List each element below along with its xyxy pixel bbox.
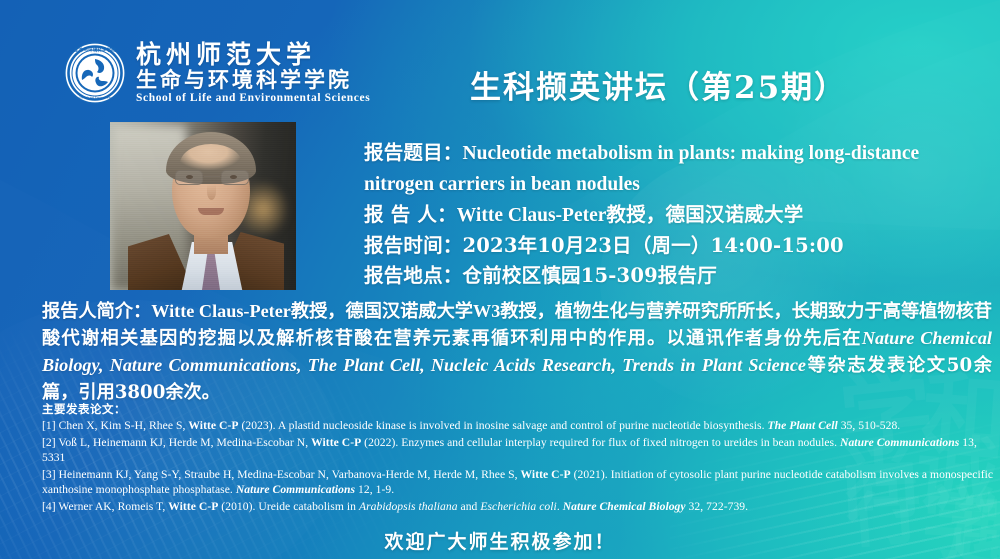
speaker-biography: 报告人简介：Witte Claus-Peter教授，德国汉诺威大学W3教授，植物… <box>42 298 992 406</box>
publication-list: 主要发表论文： [1] Chen X, Kim S-H, Rhee S, Wit… <box>42 402 994 516</box>
svg-text:生命与环境科学学院: 生命与环境科学学院 <box>74 47 116 54</box>
pub-journal: The Plant Cell <box>768 419 838 432</box>
pub-title: (2022). Enzymes and cellular interplay r… <box>361 436 840 449</box>
place-label: 报告地点： <box>364 264 463 287</box>
pub-species-2: Escherichia coli <box>480 500 556 513</box>
pub-journal: Nature Chemical Biology <box>563 500 686 513</box>
pub-conjunction: and <box>458 500 481 513</box>
list-item: [2] Voß L, Heinemann KJ, Herde M, Medina… <box>42 435 994 466</box>
topic-label: 报告题目： <box>364 141 463 164</box>
university-name-cn: 杭州师范大学 <box>136 42 370 67</box>
school-name-en: School of Life and Environmental Science… <box>136 93 370 105</box>
list-item: [4] Werner AK, Romeis T, Witte C-P (2010… <box>42 499 994 515</box>
seminar-poster: 学 和 尚 诚 行 学 趣 <box>0 0 1000 559</box>
welcome-message: 欢迎广大师生积极参加！ <box>0 527 1000 554</box>
pub-highlight-author: Witte C-P <box>311 436 361 449</box>
photo-grain <box>110 122 296 290</box>
svg-text:School of Life and Environment: School of Life and Environmental Sci. <box>71 96 119 100</box>
pub-journal: Nature Communications <box>236 483 355 496</box>
speaker-name: Witte Claus-Peter <box>457 205 607 226</box>
place-value: 仓前校区慎园15-309报告厅 <box>463 264 717 287</box>
pub-title: (2010). Ureide catabolism in <box>218 500 359 513</box>
page-title: 生科撷英讲坛（第25期） <box>470 62 847 107</box>
time-line: 报告时间：2023年10月23日（周一）14:00-15:00 <box>364 231 990 261</box>
place-line: 报告地点：仓前校区慎园15-309报告厅 <box>364 261 990 291</box>
pub-authors: [2] Voß L, Heinemann KJ, Herde M, Medina… <box>42 436 311 449</box>
seminar-info: 报告题目：Nucleotide metabolism in plants: ma… <box>364 138 990 291</box>
list-item: [1] Chen X, Kim S-H, Rhee S, Witte C-P (… <box>42 418 994 434</box>
publications-label: 主要发表论文： <box>42 402 994 417</box>
bio-affiliation: 教授，德国汉诺威大学 <box>291 301 473 322</box>
time-label: 报告时间： <box>364 234 463 257</box>
pub-highlight-author: Witte C-P <box>168 500 218 513</box>
bio-label: 报告人简介： <box>42 301 151 322</box>
speaker-line: 报 告 人：Witte Claus-Peter教授，德国汉诺威大学 <box>364 200 990 231</box>
poster-header: 生命与环境科学学院 School of Life and Environment… <box>0 0 1000 120</box>
pub-authors: [1] Chen X, Kim S-H, Rhee S, <box>42 419 188 432</box>
pub-authors: [4] Werner AK, Romeis T, <box>42 500 168 513</box>
bio-name: Witte Claus-Peter <box>151 301 291 321</box>
time-value: 2023年10月23日（周一）14:00-15:00 <box>463 234 844 257</box>
pub-title: (2023). A plastid nucleoside kinase is i… <box>239 419 768 432</box>
pub-volume: 32, 722-739. <box>686 500 748 513</box>
university-emblem-icon: 生命与环境科学学院 School of Life and Environment… <box>64 42 126 104</box>
school-name-cn: 生命与环境科学学院 <box>136 69 370 90</box>
pub-volume: 12, 1-9. <box>355 483 394 496</box>
speaker-affiliation: 教授，德国汉诺威大学 <box>606 203 803 226</box>
speaker-photo <box>110 122 296 290</box>
pub-species-1: Arabidopsis thaliana <box>359 500 458 513</box>
pub-authors: [3] Heinemann KJ, Yang S-Y, Straube H, M… <box>42 468 521 481</box>
university-name-block: 杭州师范大学 生命与环境科学学院 School of Life and Envi… <box>136 42 370 105</box>
pub-journal: Nature Communications <box>840 436 959 449</box>
pub-highlight-author: Witte C-P <box>521 468 571 481</box>
list-item: [3] Heinemann KJ, Yang S-Y, Straube H, M… <box>42 467 994 498</box>
bio-rank: W3 <box>473 301 500 321</box>
university-logo: 生命与环境科学学院 School of Life and Environment… <box>64 42 370 105</box>
topic-line: 报告题目：Nucleotide metabolism in plants: ma… <box>364 138 990 200</box>
pub-highlight-author: Witte C-P <box>188 419 238 432</box>
speaker-label: 报 告 人： <box>364 203 457 226</box>
pub-volume: 35, 510-528. <box>838 419 900 432</box>
